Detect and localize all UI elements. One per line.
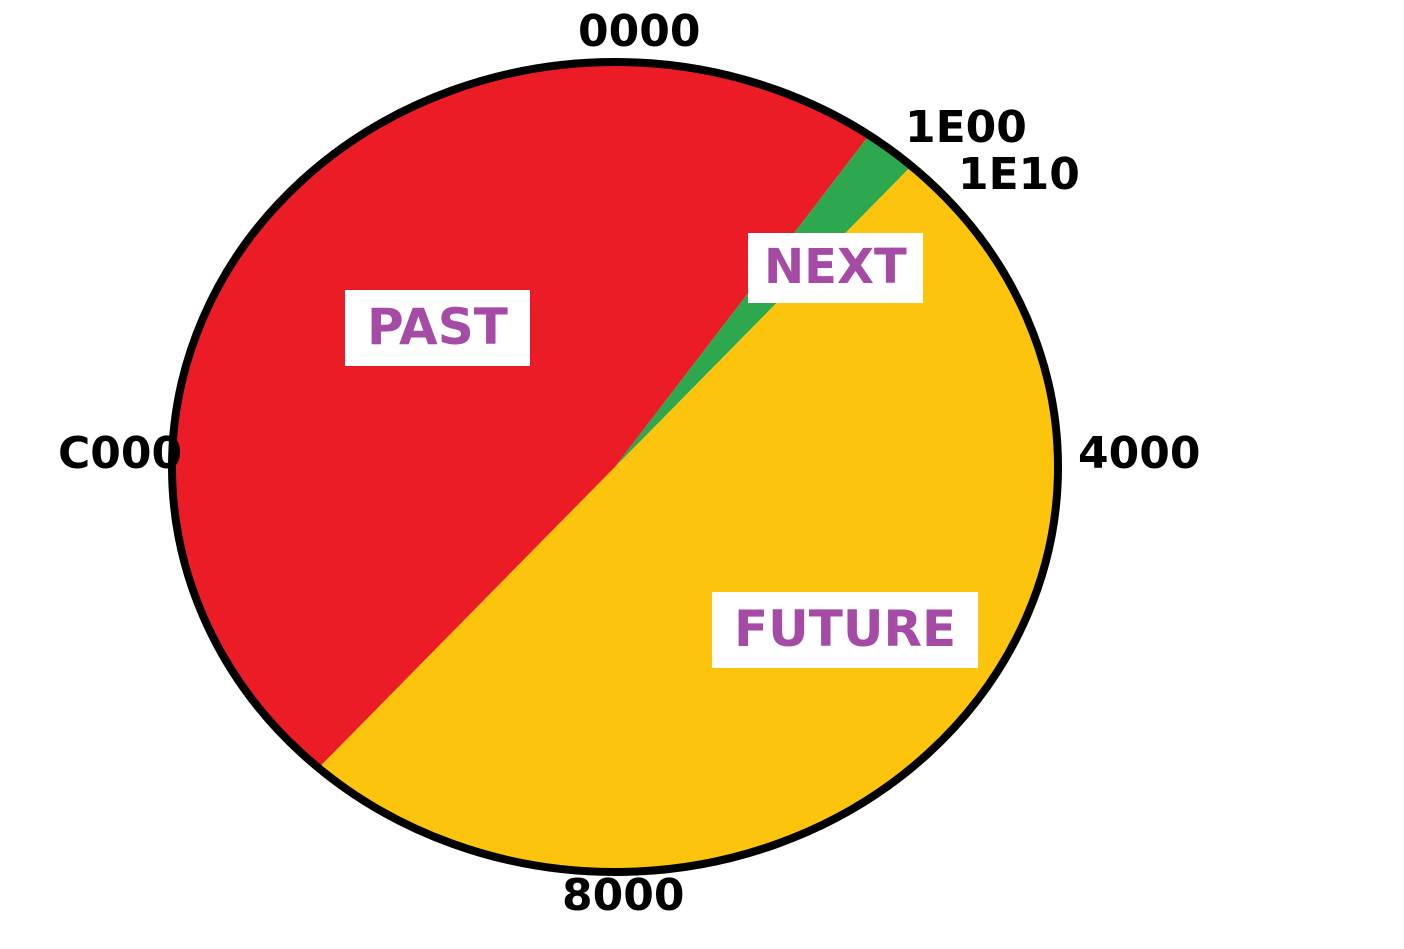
tick-label-1E10: 1E10 [958, 153, 1080, 197]
tick-label-1E00: 1E00 [905, 106, 1027, 150]
segment-label-next: NEXT [748, 233, 923, 303]
diagram-canvas: 0000 1E00 1E10 4000 8000 C000 PAST NEXT … [0, 0, 1404, 949]
tick-label-8000: 8000 [562, 874, 684, 918]
tick-label-0000: 0000 [578, 10, 700, 54]
tick-label-4000: 4000 [1078, 432, 1200, 476]
segment-label-past: PAST [345, 290, 530, 366]
segment-label-future: FUTURE [712, 592, 978, 668]
tick-label-C000: C000 [58, 432, 182, 476]
